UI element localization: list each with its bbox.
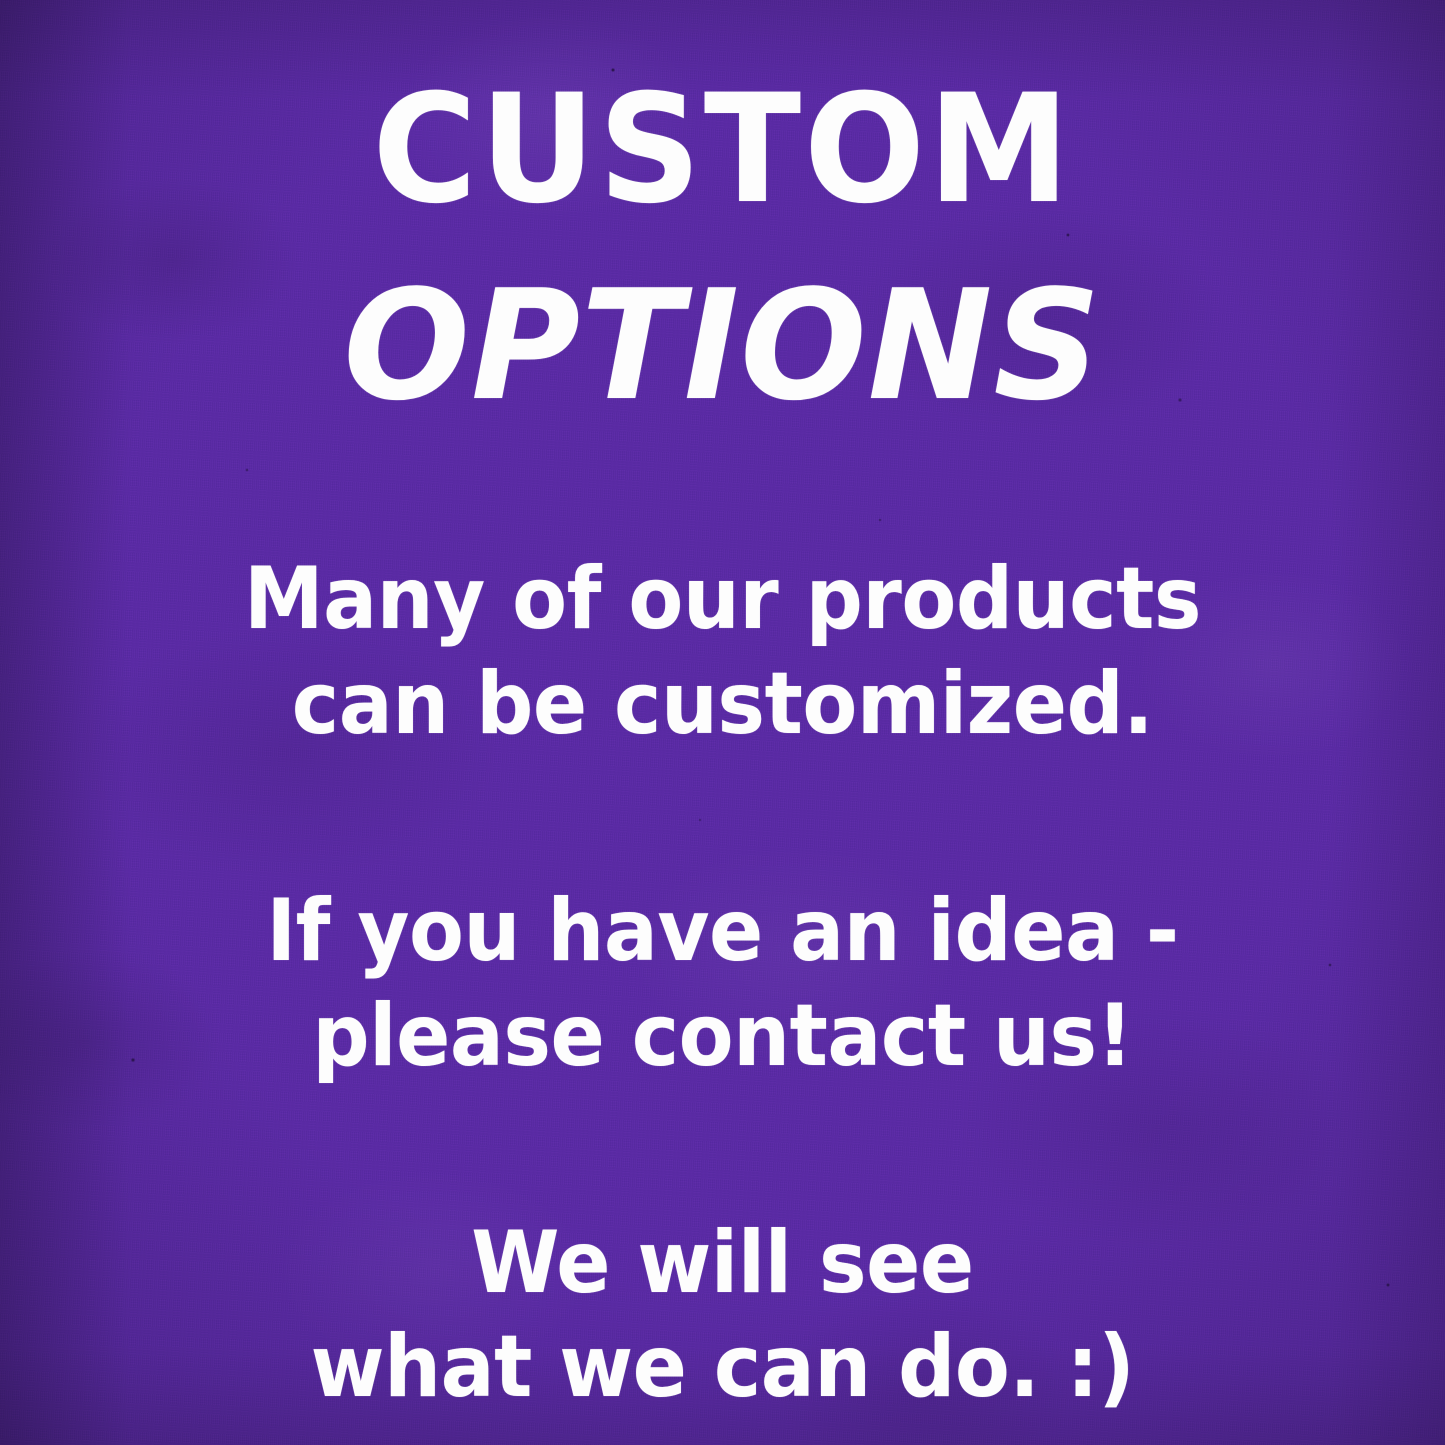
paragraph-closing-reassurance: We will see what we can do. :) (0, 1211, 1445, 1421)
poster-content: CUSTOM OPTIONS Many of our products can … (0, 0, 1445, 1445)
paragraph-2-line-1: If you have an idea - (51, 879, 1395, 984)
paragraph-1-line-2: can be customized. (51, 652, 1395, 757)
poster-body: Many of our products can be customized. … (0, 547, 1445, 1420)
paragraph-2-line-2: please contact us! (51, 984, 1395, 1089)
paragraph-3-line-2: what we can do. :) (51, 1315, 1395, 1420)
paragraph-1-line-1: Many of our products (51, 547, 1395, 652)
headline-line-custom: CUSTOM (36, 78, 1409, 224)
page-title: CUSTOM OPTIONS (0, 78, 1445, 419)
custom-options-poster: CUSTOM OPTIONS Many of our products can … (0, 0, 1445, 1445)
headline-line-options: OPTIONS (14, 272, 1430, 419)
paragraph-customization-notice: Many of our products can be customized. (0, 547, 1445, 757)
paragraph-contact-invitation: If you have an idea - please contact us! (0, 879, 1445, 1089)
paragraph-3-line-1: We will see (51, 1211, 1395, 1316)
